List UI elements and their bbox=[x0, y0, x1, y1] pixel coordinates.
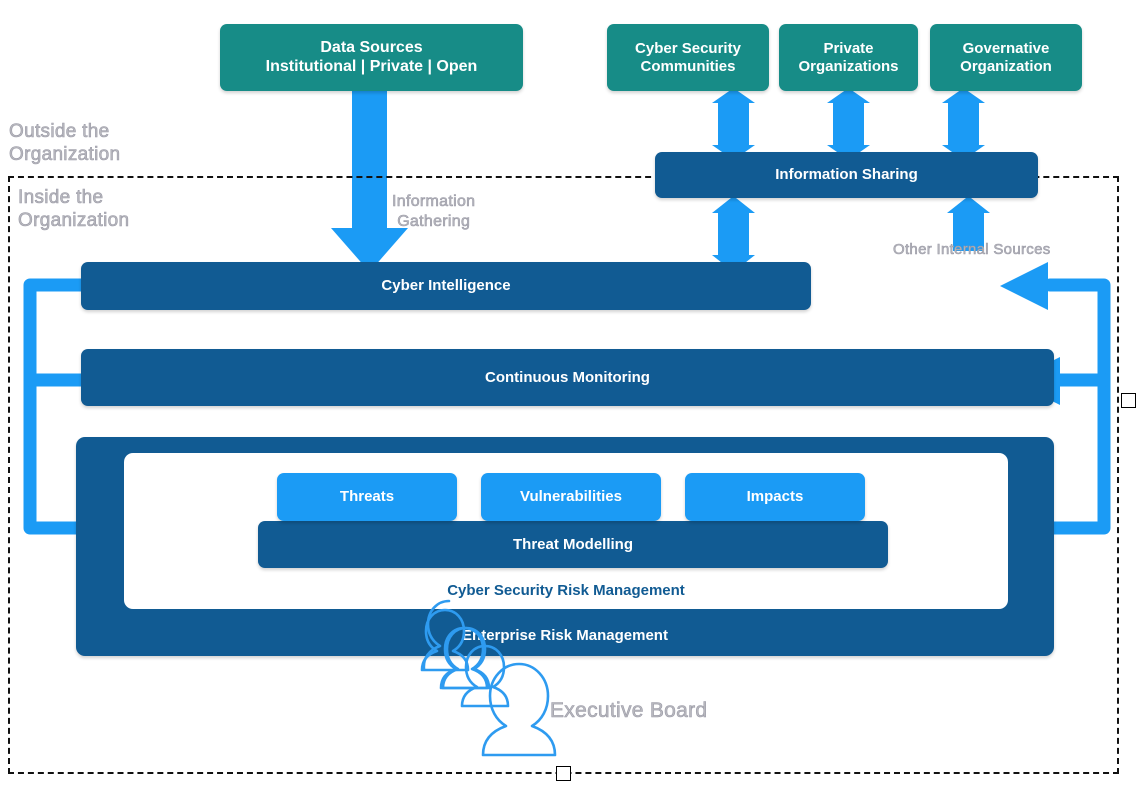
data-sources-subtitle: Institutional | Private | Open bbox=[266, 58, 478, 77]
diagram-canvas: Data Sources Institutional | Private | O… bbox=[0, 0, 1138, 796]
threat-modelling-box[interactable]: Threat Modelling bbox=[258, 521, 888, 568]
selection-handle-bottom[interactable] bbox=[556, 766, 571, 781]
continuous-monitoring-box[interactable]: Continuous Monitoring bbox=[81, 349, 1054, 406]
cyber-security-communities-line2: Communities bbox=[640, 58, 735, 76]
private-organizations-box[interactable]: Private Organizations bbox=[779, 24, 918, 91]
impacts-label: Impacts bbox=[747, 488, 804, 506]
inside-organization-label: Inside the Organization bbox=[18, 186, 129, 232]
executive-board-label: Executive Board bbox=[550, 698, 707, 724]
data-sources-title: Data Sources bbox=[320, 39, 422, 58]
data-sources-box[interactable]: Data Sources Institutional | Private | O… bbox=[220, 24, 523, 91]
information-sharing-label: Information Sharing bbox=[775, 166, 918, 184]
vulnerabilities-box[interactable]: Vulnerabilities bbox=[481, 473, 661, 521]
cyber-intelligence-label: Cyber Intelligence bbox=[381, 277, 510, 295]
cyber-intelligence-box[interactable]: Cyber Intelligence bbox=[81, 262, 811, 310]
arrow-private-organizations bbox=[827, 88, 870, 160]
governative-organization-line2: Organization bbox=[960, 58, 1052, 76]
other-internal-sources-label: Other Internal Sources bbox=[893, 241, 1051, 259]
private-organizations-line2: Organizations bbox=[798, 58, 898, 76]
cyber-security-risk-management-label: Cyber Security Risk Management bbox=[447, 582, 685, 599]
governative-organization-box[interactable]: Governative Organization bbox=[930, 24, 1082, 91]
information-gathering-label: Information Gathering bbox=[392, 192, 475, 231]
information-sharing-box[interactable]: Information Sharing bbox=[655, 152, 1038, 198]
governative-organization-line1: Governative bbox=[963, 40, 1050, 58]
cyber-security-communities-box[interactable]: Cyber Security Communities bbox=[607, 24, 769, 91]
arrow-cyber-security-communities bbox=[712, 88, 755, 160]
continuous-monitoring-label: Continuous Monitoring bbox=[485, 369, 650, 387]
threat-modelling-label: Threat Modelling bbox=[513, 536, 633, 554]
impacts-box[interactable]: Impacts bbox=[685, 473, 865, 521]
private-organizations-line1: Private bbox=[823, 40, 873, 58]
selection-handle-right[interactable] bbox=[1121, 393, 1136, 408]
enterprise-risk-management-label: Enterprise Risk Management bbox=[462, 627, 668, 645]
threats-box[interactable]: Threats bbox=[277, 473, 457, 521]
outside-organization-label: Outside the Organization bbox=[9, 120, 120, 166]
cyber-security-communities-line1: Cyber Security bbox=[635, 40, 741, 58]
threats-label: Threats bbox=[340, 488, 394, 506]
arrow-governative-organization bbox=[942, 88, 985, 160]
vulnerabilities-label: Vulnerabilities bbox=[520, 488, 622, 506]
